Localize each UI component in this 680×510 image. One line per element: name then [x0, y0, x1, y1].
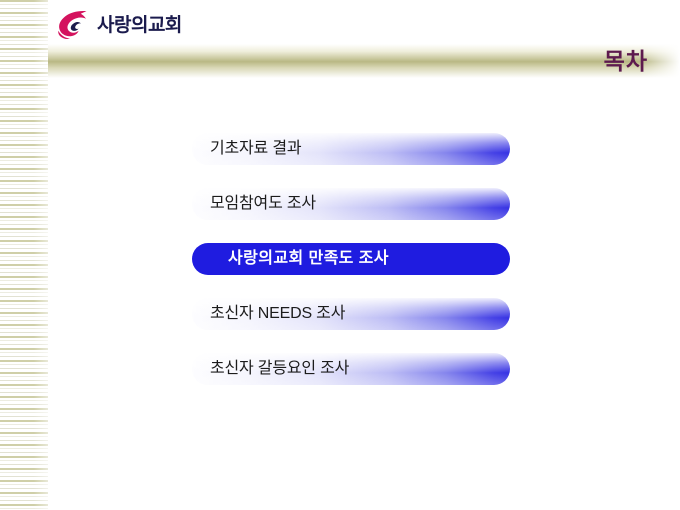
agenda-item-5[interactable]: 초신자 갈등요인 조사: [48, 353, 680, 385]
left-stripe-decoration: [0, 0, 48, 510]
slide-content-area: 사랑의교회 목차 기초자료 결과 모임참여도 조사 사랑의교회 만족도 조사 초: [48, 0, 680, 510]
agenda-list: 기초자료 결과 모임참여도 조사 사랑의교회 만족도 조사 초신자 NEEDS …: [48, 133, 680, 408]
agenda-item-label: 모임참여도 조사: [210, 188, 316, 220]
agenda-item-label: 초신자 갈등요인 조사: [210, 353, 349, 385]
presentation-slide: 사랑의교회 목차 기초자료 결과 모임참여도 조사 사랑의교회 만족도 조사 초: [0, 0, 680, 510]
brand-logo: 사랑의교회: [55, 8, 182, 42]
slide-header: 사랑의교회 목차: [48, 0, 680, 96]
agenda-item-label: 사랑의교회 만족도 조사: [228, 243, 389, 275]
agenda-item-1[interactable]: 기초자료 결과: [48, 133, 680, 165]
title-band: [48, 44, 680, 78]
agenda-item-3-selected[interactable]: 사랑의교회 만족도 조사: [48, 243, 680, 275]
brand-name: 사랑의교회: [97, 16, 182, 35]
agenda-item-label: 기초자료 결과: [210, 133, 301, 165]
flame-logo-icon: [55, 10, 89, 40]
agenda-item-label: 초신자 NEEDS 조사: [210, 298, 345, 330]
agenda-item-4[interactable]: 초신자 NEEDS 조사: [48, 298, 680, 330]
agenda-item-2[interactable]: 모임참여도 조사: [48, 188, 680, 220]
page-title: 목차: [604, 44, 648, 78]
